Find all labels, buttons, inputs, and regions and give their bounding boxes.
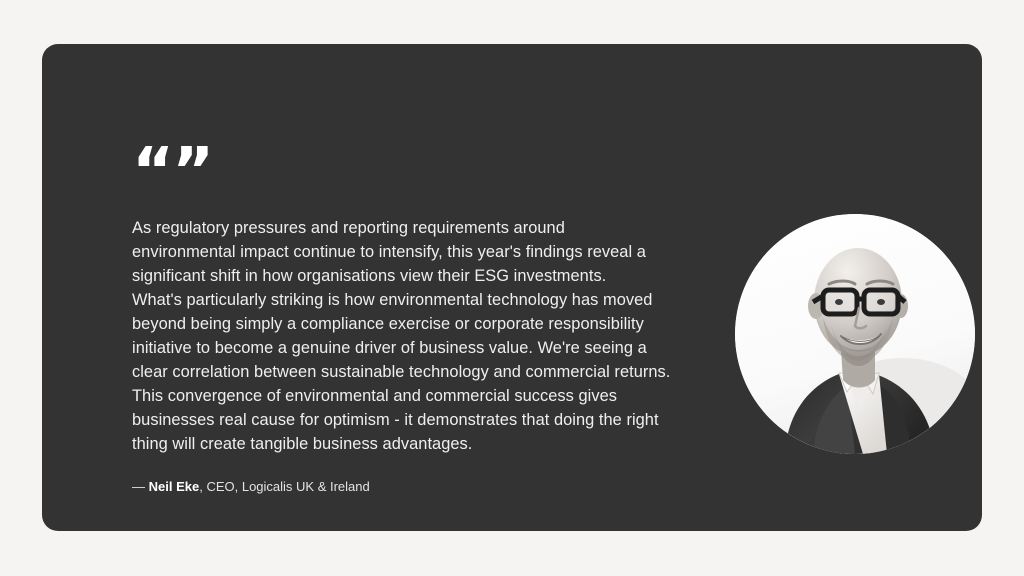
quote-line: As regulatory pressures and reporting re… [132,216,732,240]
quote-mark-icon: “” [132,140,212,204]
avatar [735,214,975,454]
slide-canvas: “” As regulatory pressures and reporting… [0,0,1024,576]
quote-line: initiative to become a genuine driver of… [132,336,732,360]
attribution: — Neil Eke, CEO, Logicalis UK & Ireland [132,478,370,496]
portrait-image [735,214,975,454]
quote-line: environmental impact continue to intensi… [132,240,732,264]
quote-text: As regulatory pressures and reporting re… [132,216,732,456]
quote-line: beyond being simply a compliance exercis… [132,312,732,336]
attribution-name: Neil Eke [149,479,200,494]
testimonial-card: “” As regulatory pressures and reporting… [42,44,982,531]
quote-line: What's particularly striking is how envi… [132,288,732,312]
quote-line: businesses real cause for optimism - it … [132,408,732,432]
attribution-dash: — [132,479,149,494]
quote-line: thing will create tangible business adva… [132,432,732,456]
quote-line: This convergence of environmental and co… [132,384,732,408]
quote-line: clear correlation between sustainable te… [132,360,732,384]
quote-line: significant shift in how organisations v… [132,264,732,288]
attribution-role: , CEO, Logicalis UK & Ireland [199,479,370,494]
